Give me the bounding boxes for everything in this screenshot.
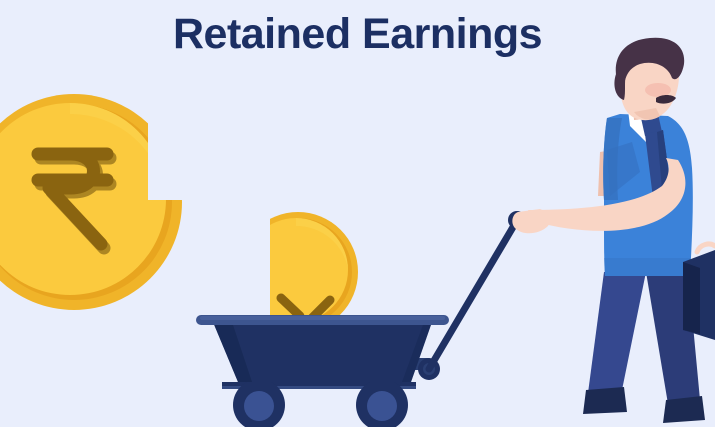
shirt-hem-shadow <box>604 258 690 276</box>
briefcase-face-dark <box>683 262 700 334</box>
shoe-front <box>583 387 627 414</box>
wheel-hub-right <box>367 391 397 421</box>
wheel-hub-left <box>244 391 274 421</box>
shoe-back <box>663 396 705 423</box>
retained-earnings-illustration: Retained Earnings <box>0 0 715 427</box>
scene-artwork <box>0 0 715 427</box>
wagon-top-rim-highlight <box>200 316 445 320</box>
blush-cheek <box>645 83 671 97</box>
